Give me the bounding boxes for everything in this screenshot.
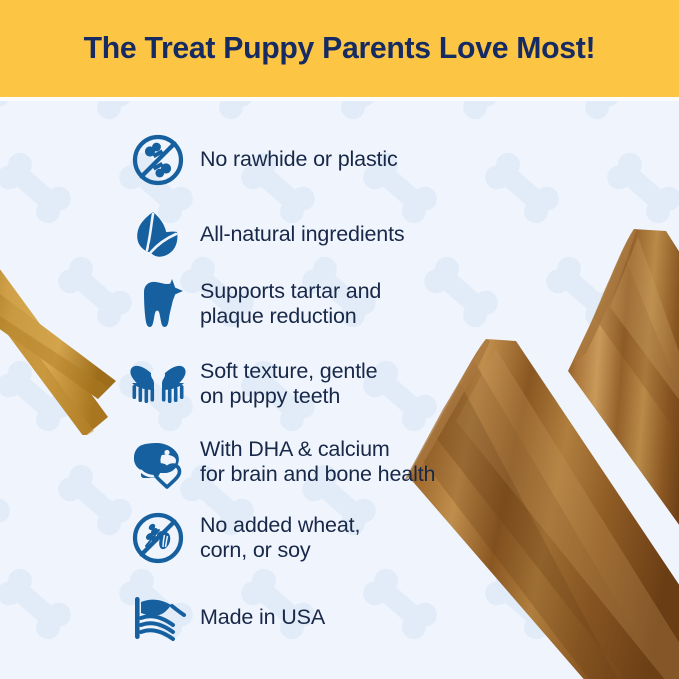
feature-label: No added wheat, corn, or soy	[200, 513, 360, 564]
page-title: The Treat Puppy Parents Love Most!	[84, 31, 596, 66]
header-banner: The Treat Puppy Parents Love Most!	[0, 0, 679, 97]
hands-heart-icon	[125, 353, 191, 415]
feature-item-dha-calcium: With DHA & calcium for brain and bone he…	[125, 431, 435, 493]
feature-label: Supports tartar and plaque reduction	[200, 279, 381, 330]
feature-item-made-in-usa: Made in USA	[125, 587, 325, 649]
tooth-sparkle-icon	[125, 273, 191, 335]
feature-item-no-rawhide: No rawhide or plastic	[125, 129, 398, 191]
feature-item-all-natural: All-natural ingredients	[125, 204, 405, 266]
feature-item-soft-texture: Soft texture, gentle on puppy teeth	[125, 353, 377, 415]
feature-label: With DHA & calcium for brain and bone he…	[200, 437, 435, 488]
feature-label: All-natural ingredients	[200, 222, 405, 248]
usa-flag-icon	[125, 587, 191, 649]
no-grain-icon	[125, 507, 191, 569]
feature-item-tartar: Supports tartar and plaque reduction	[125, 273, 381, 335]
feature-list: No rawhide or plastic All-natural ingred…	[0, 101, 679, 679]
dog-heart-icon	[125, 431, 191, 493]
feature-label: Soft texture, gentle on puppy teeth	[200, 359, 377, 410]
feature-item-no-grain: No added wheat, corn, or soy	[125, 507, 360, 569]
no-rawhide-icon	[125, 129, 191, 191]
feature-label: Made in USA	[200, 605, 325, 631]
product-infographic: The Treat Puppy Parents Love Most!	[0, 0, 679, 679]
body-panel: No rawhide or plastic All-natural ingred…	[0, 101, 679, 679]
leaves-icon	[125, 204, 191, 266]
feature-label: No rawhide or plastic	[200, 147, 398, 173]
